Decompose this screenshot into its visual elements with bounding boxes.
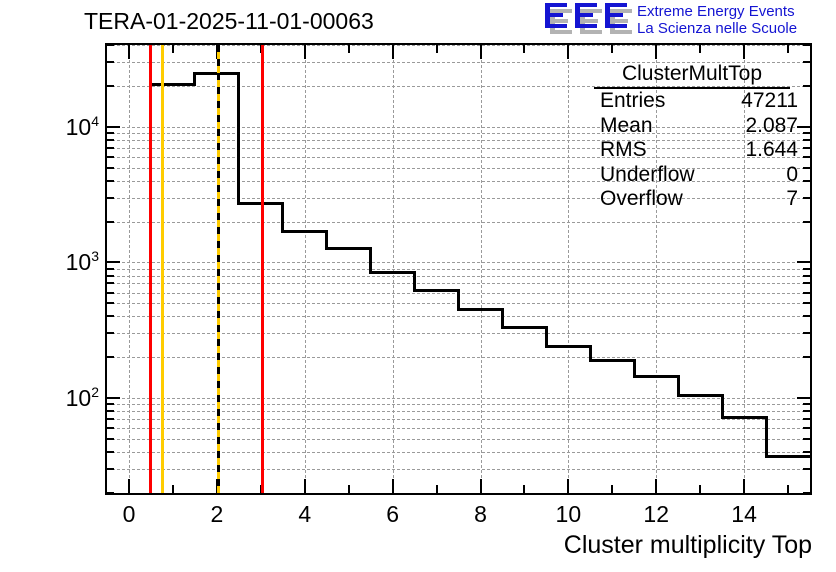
y-tick <box>107 315 114 317</box>
y-tick <box>107 403 114 405</box>
y-tick <box>803 492 810 493</box>
y-axis-label: 102 <box>66 384 99 412</box>
stats-row-key: RMS <box>600 138 647 163</box>
x-axis-label: 10 <box>556 501 582 528</box>
gridline-h <box>107 262 810 263</box>
gridline-v <box>568 45 569 493</box>
eee-logo-mark <box>545 3 631 35</box>
histogram-step-riser <box>281 202 284 232</box>
histogram-step-top <box>546 345 590 348</box>
y-tick <box>107 438 114 440</box>
x-tick <box>699 485 701 493</box>
y-tick <box>803 403 810 405</box>
x-tick <box>567 479 569 493</box>
y-axis-label: 104 <box>66 113 99 141</box>
histogram-step-riser <box>237 72 240 205</box>
y-tick <box>107 85 114 87</box>
gridline-v <box>393 45 394 493</box>
y-tick <box>107 292 114 294</box>
stats-row: Entries47211 <box>578 89 806 114</box>
y-tick <box>107 261 120 263</box>
histogram-step-riser <box>501 308 504 329</box>
y-tick <box>107 132 114 134</box>
y-tick <box>107 180 114 182</box>
gridline-v <box>129 45 130 493</box>
gridline-h <box>107 398 810 399</box>
gridline-h <box>107 222 810 223</box>
y-tick <box>107 126 120 128</box>
stats-row-value: 1.644 <box>745 138 798 163</box>
histogram-step-riser <box>369 247 372 274</box>
y-tick <box>803 275 810 277</box>
stats-row-value: 7 <box>786 187 798 212</box>
gridline-h <box>107 439 810 440</box>
root-canvas: TERA-01-2025-11-01-00063 Extreme Energy … <box>0 0 836 572</box>
stats-box: ClusterMultTop Entries47211Mean2.087RMS1… <box>578 62 806 212</box>
x-axis-label: 6 <box>386 501 399 528</box>
y-tick <box>107 427 114 429</box>
eee-logo-text: Extreme Energy Events La Scienza nelle S… <box>637 3 797 37</box>
y-tick <box>107 356 114 358</box>
histogram-step-riser <box>413 271 416 292</box>
x-tick <box>436 485 438 493</box>
x-tick <box>348 485 350 493</box>
x-tick <box>128 45 130 59</box>
x-tick <box>348 45 350 53</box>
histogram-step-top <box>678 394 722 397</box>
stats-box-title: ClusterMultTop <box>594 62 790 89</box>
orange-line-low <box>161 45 164 493</box>
stats-row-key: Entries <box>600 89 665 114</box>
x-axis-label: 12 <box>643 501 669 528</box>
y-tick <box>107 302 114 304</box>
y-tick <box>803 302 810 304</box>
gridline-h <box>107 419 810 420</box>
gridline-h <box>107 404 810 405</box>
stats-row: RMS1.644 <box>578 138 806 163</box>
x-tick <box>787 485 789 493</box>
y-tick <box>107 147 114 149</box>
x-tick <box>392 45 394 59</box>
histogram-step-top <box>634 375 678 378</box>
x-axis-title: Cluster multiplicity Top <box>564 531 812 560</box>
x-tick <box>172 485 174 493</box>
eee-letter-icon <box>605 3 630 34</box>
y-tick <box>107 45 114 46</box>
x-tick <box>392 479 394 493</box>
histogram-step-riser <box>633 359 636 378</box>
gridline-h <box>107 452 810 453</box>
x-tick <box>611 45 613 53</box>
histogram-step-top <box>371 271 415 274</box>
x-tick <box>436 45 438 53</box>
y-tick <box>803 427 810 429</box>
y-tick <box>107 61 114 63</box>
stats-row: Underflow0 <box>578 163 806 188</box>
gridline-h <box>107 45 810 46</box>
page-title: TERA-01-2025-11-01-00063 <box>84 8 374 35</box>
stats-row-value: 2.087 <box>745 114 798 139</box>
y-tick <box>107 282 114 284</box>
histogram-step-top <box>459 308 503 311</box>
y-tick <box>107 468 114 470</box>
histogram-step-top <box>283 230 327 233</box>
x-axis-label: 2 <box>210 501 223 528</box>
y-tick <box>797 261 810 263</box>
x-tick <box>699 45 701 53</box>
histogram-step-top <box>415 289 459 292</box>
y-tick <box>803 292 810 294</box>
histogram-step-riser <box>721 394 724 419</box>
eee-letter-icon <box>575 3 600 34</box>
red-line-high <box>261 45 264 493</box>
histogram-step-riser <box>457 289 460 311</box>
x-tick <box>611 485 613 493</box>
y-tick <box>797 397 810 399</box>
y-tick <box>803 45 810 46</box>
histogram-step-riser <box>545 326 548 348</box>
y-tick <box>107 197 114 199</box>
histogram-step-riser <box>765 416 768 458</box>
gridline-h <box>107 428 810 429</box>
x-tick <box>567 45 569 59</box>
histogram-step-top <box>151 83 195 86</box>
histogram-step-top <box>327 247 371 250</box>
x-tick <box>128 479 130 493</box>
gridline-h <box>107 333 810 334</box>
y-tick <box>803 410 810 412</box>
gridline-v <box>305 45 306 493</box>
y-tick <box>803 468 810 470</box>
y-tick <box>107 139 114 141</box>
gridline-h <box>107 269 810 270</box>
y-tick <box>803 451 810 453</box>
y-tick <box>107 167 114 169</box>
y-tick <box>803 438 810 440</box>
y-tick <box>107 410 114 412</box>
x-tick <box>304 45 306 59</box>
gridline-h <box>107 283 810 284</box>
y-tick <box>803 268 810 270</box>
stats-row: Overflow7 <box>578 187 806 212</box>
gridline-v <box>481 45 482 493</box>
gridline-h <box>107 276 810 277</box>
x-tick <box>655 45 657 59</box>
x-tick <box>743 45 745 59</box>
y-tick <box>803 221 810 223</box>
y-tick <box>107 221 114 223</box>
x-axis-label: 14 <box>731 501 757 528</box>
x-tick <box>480 45 482 59</box>
eee-logo: Extreme Energy Events La Scienza nelle S… <box>545 3 833 37</box>
y-tick <box>803 282 810 284</box>
gridline-h <box>107 411 810 412</box>
y-tick <box>107 397 120 399</box>
x-tick <box>655 479 657 493</box>
x-tick <box>304 479 306 493</box>
y-axis-label: 103 <box>66 249 99 277</box>
histogram-step-top <box>590 359 634 362</box>
histogram-step-riser <box>589 345 592 362</box>
y-tick <box>803 418 810 420</box>
gridline-h <box>107 316 810 317</box>
stats-row: Mean2.087 <box>578 114 806 139</box>
histogram-step-top <box>722 416 766 419</box>
red-line-low <box>149 45 152 493</box>
x-axis-label: 8 <box>474 501 487 528</box>
x-tick <box>480 479 482 493</box>
x-axis-label: 0 <box>123 501 136 528</box>
x-tick <box>523 45 525 53</box>
histogram-step-top <box>766 455 810 458</box>
histogram-step-top <box>502 326 546 329</box>
stats-row-key: Mean <box>600 114 653 139</box>
stats-row-value: 0 <box>786 163 798 188</box>
y-tick <box>107 268 114 270</box>
y-tick <box>107 492 114 493</box>
histogram-step-riser <box>193 72 196 86</box>
x-tick <box>743 479 745 493</box>
histogram-step-riser <box>677 375 680 397</box>
gridline-h <box>107 469 810 470</box>
stats-row-key: Underflow <box>600 163 695 188</box>
x-tick <box>787 45 789 53</box>
gridline-h <box>107 357 810 358</box>
x-axis-label: 4 <box>298 501 311 528</box>
y-tick <box>107 451 114 453</box>
x-tick <box>523 485 525 493</box>
y-tick <box>803 332 810 334</box>
y-tick <box>107 275 114 277</box>
eee-letter-icon <box>545 3 570 34</box>
x-tick <box>172 45 174 53</box>
eee-logo-line1: Extreme Energy Events <box>637 3 797 20</box>
y-tick <box>803 356 810 358</box>
mean-line-orange <box>217 45 220 493</box>
y-tick <box>107 332 114 334</box>
histogram-step-riser <box>325 230 328 250</box>
y-tick <box>107 418 114 420</box>
stats-row-value: 47211 <box>741 89 798 114</box>
y-tick <box>803 315 810 317</box>
eee-logo-line2: La Scienza nelle Scuole <box>637 20 797 37</box>
y-tick <box>107 156 114 158</box>
stats-row-key: Overflow <box>600 187 683 212</box>
